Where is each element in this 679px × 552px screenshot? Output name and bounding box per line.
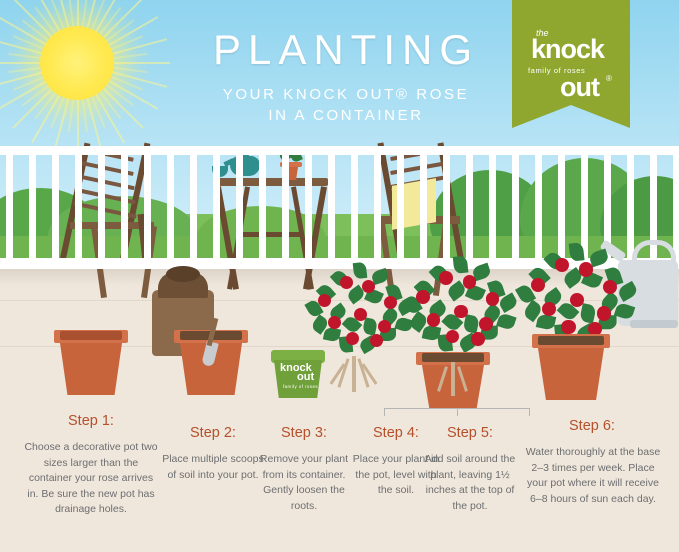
railing-baluster bbox=[673, 155, 679, 259]
rose-bloom bbox=[454, 305, 468, 319]
step-1-body: Choose a decorative pot two sizes larger… bbox=[24, 440, 158, 518]
railing-baluster bbox=[558, 155, 565, 259]
railing-baluster bbox=[121, 155, 128, 259]
rose-bloom bbox=[542, 302, 556, 316]
rose-bloom bbox=[579, 262, 593, 276]
rose-bloom bbox=[354, 308, 367, 321]
rose-bloom bbox=[416, 290, 430, 304]
rose-bloom bbox=[318, 294, 331, 307]
railing-baluster bbox=[144, 155, 151, 259]
railing-baluster bbox=[420, 155, 427, 259]
railing-baluster bbox=[213, 155, 220, 259]
rose-bloom bbox=[328, 316, 341, 329]
rose-bloom bbox=[531, 278, 545, 292]
railing-baluster bbox=[29, 155, 36, 259]
railing-baluster bbox=[581, 155, 588, 259]
rose-bloom bbox=[463, 275, 477, 289]
rose-bloom bbox=[597, 306, 611, 320]
railing-baluster bbox=[489, 155, 496, 259]
page-subtitle: YOUR KNOCK OUT® ROSE IN A CONTAINER bbox=[176, 84, 516, 126]
railing-baluster bbox=[167, 155, 174, 259]
railing-baluster bbox=[351, 155, 358, 259]
rose-bloom bbox=[384, 296, 397, 309]
railing-baluster bbox=[535, 155, 542, 259]
rose-bloom bbox=[370, 334, 383, 347]
railing-baluster bbox=[75, 155, 82, 259]
rose-bloom bbox=[362, 280, 375, 293]
step-1-heading: Step 1: bbox=[36, 413, 146, 429]
step-3-body: Remove your plant from its container. Ge… bbox=[254, 452, 354, 514]
nursery-pot-brand-bot: out bbox=[297, 372, 314, 382]
railing-baluster bbox=[6, 155, 13, 259]
infographic-canvas: PLANTING YOUR KNOCK OUT® ROSE IN A CONTA… bbox=[0, 0, 679, 552]
railing-baluster bbox=[374, 155, 381, 259]
step-5-heading: Step 5: bbox=[422, 425, 518, 441]
rose-bloom bbox=[486, 292, 500, 306]
rose-bloom bbox=[471, 332, 485, 346]
railing-baluster bbox=[305, 155, 312, 259]
railing-baluster bbox=[627, 155, 634, 259]
railing-baluster bbox=[259, 155, 266, 259]
step-bracket-tick bbox=[384, 408, 385, 416]
railing-top-rail bbox=[0, 146, 679, 155]
nursery-pot-tagline: family of roses bbox=[283, 384, 318, 389]
rose-bloom bbox=[346, 332, 359, 345]
rose-bloom bbox=[439, 271, 453, 285]
step-bracket-tick bbox=[457, 408, 458, 416]
step-2-body: Place multiple scoops of soil into your … bbox=[162, 452, 264, 483]
step-5-body: Add soil around the plant, leaving 1½ in… bbox=[422, 452, 518, 514]
logo-knock-text: knock bbox=[531, 34, 604, 65]
railing-baluster bbox=[512, 155, 519, 259]
railing-baluster bbox=[466, 155, 473, 259]
railing-baluster bbox=[443, 155, 450, 259]
sun-icon bbox=[40, 26, 114, 100]
railing-baluster bbox=[282, 155, 289, 259]
rose-bloom bbox=[340, 276, 353, 289]
railing-baluster bbox=[52, 155, 59, 259]
railing-baluster bbox=[190, 155, 197, 259]
step-2-heading: Step 2: bbox=[165, 425, 261, 441]
logo-registered-mark: ® bbox=[606, 74, 612, 83]
railing-baluster bbox=[98, 155, 105, 259]
rose-bloom bbox=[561, 320, 575, 334]
step-bracket-tick bbox=[529, 408, 530, 416]
step-6-body: Water thoroughly at the base 2–3 times p… bbox=[525, 445, 661, 507]
rose-bloom bbox=[378, 320, 391, 333]
page-title: PLANTING bbox=[196, 26, 496, 74]
railing-baluster bbox=[397, 155, 404, 259]
logo-out-text: out bbox=[560, 72, 599, 103]
step-3-heading: Step 3: bbox=[256, 425, 352, 441]
railing-baluster bbox=[236, 155, 243, 259]
subtitle-line-2: IN A CONTAINER bbox=[176, 105, 516, 126]
rose-bloom bbox=[479, 317, 493, 331]
railing-baluster bbox=[328, 155, 335, 259]
step-6-heading: Step 6: bbox=[527, 418, 657, 434]
subtitle-line-1: YOUR KNOCK OUT® ROSE bbox=[176, 84, 516, 105]
rose-bloom bbox=[427, 313, 441, 327]
